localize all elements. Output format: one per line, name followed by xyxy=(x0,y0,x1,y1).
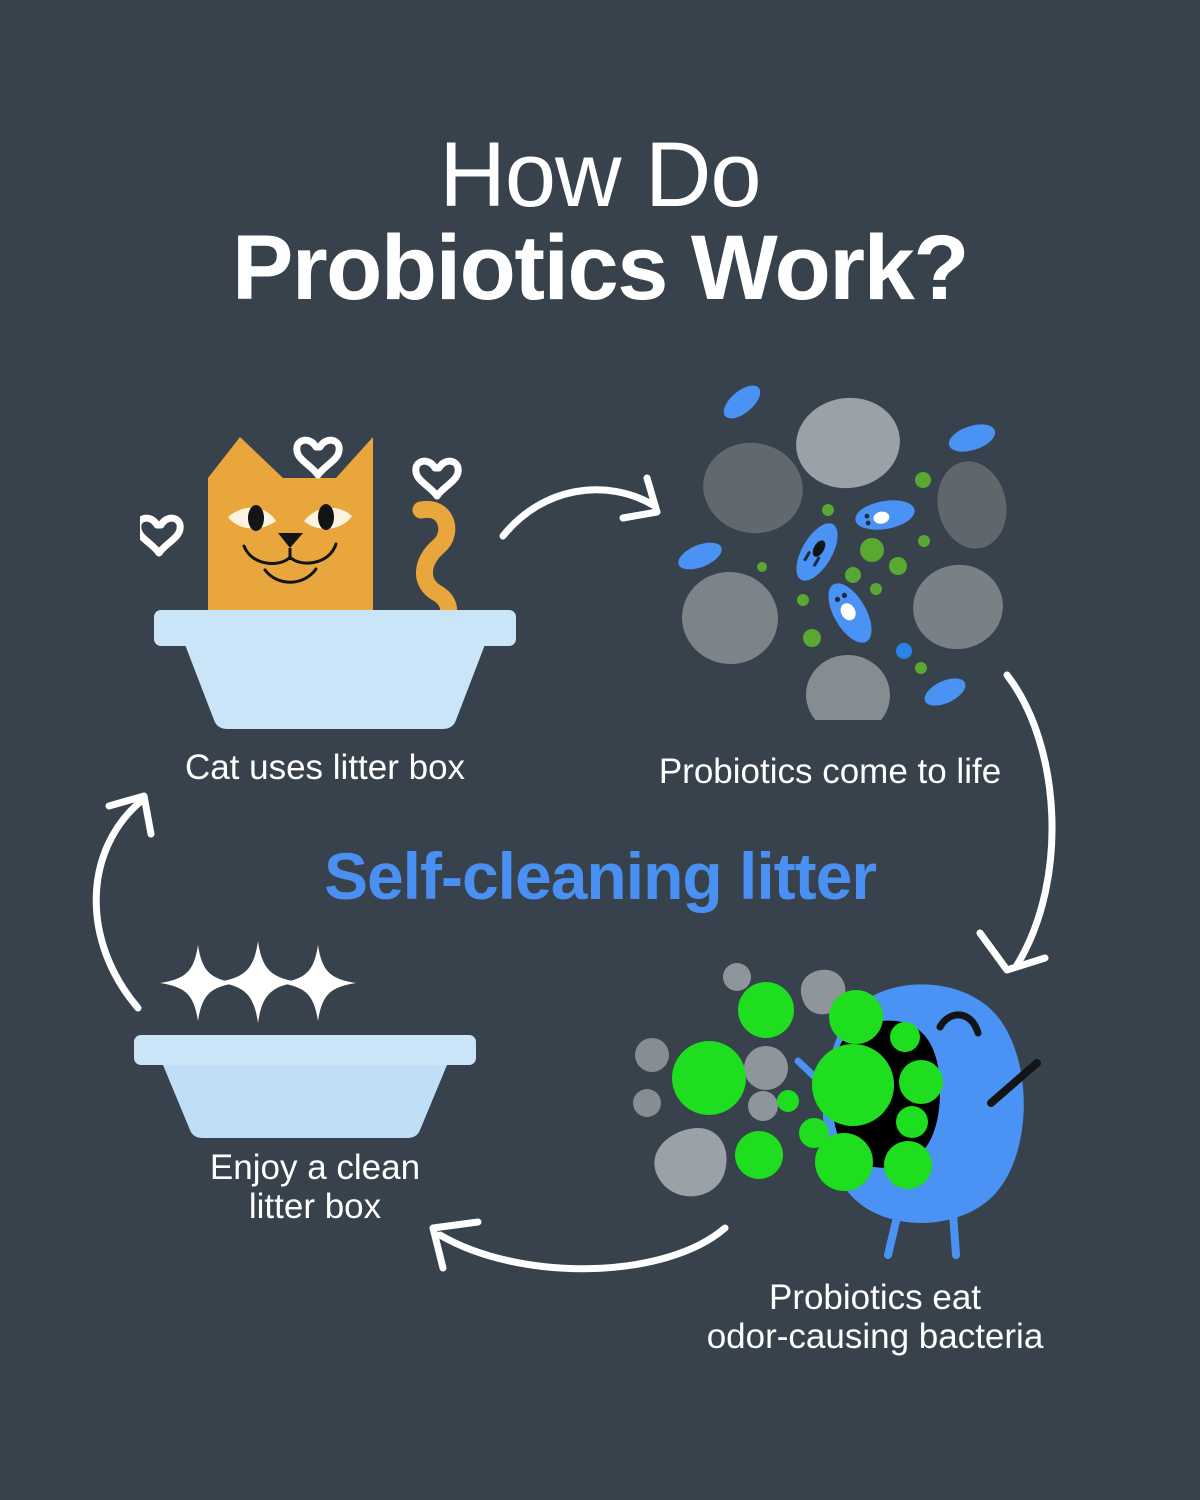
bacteria xyxy=(896,1106,928,1138)
cat-head-body xyxy=(208,437,373,627)
probiotic-rod xyxy=(675,537,726,575)
clean-litter-box-illustration xyxy=(130,935,510,1150)
litter-clump xyxy=(676,566,784,670)
litter-clump xyxy=(906,558,1009,656)
bacteria xyxy=(884,1141,932,1189)
litter-clump xyxy=(930,455,1015,555)
curved-arrow-icon xyxy=(1007,675,1052,965)
litter-box-basin xyxy=(184,642,486,729)
litter-clump xyxy=(695,434,812,543)
bacteria xyxy=(777,1090,799,1112)
litter-clump xyxy=(744,1046,788,1090)
spore xyxy=(870,583,882,595)
curved-arrow-icon xyxy=(503,490,653,536)
litter-box-rim xyxy=(154,610,516,646)
sparkle-group xyxy=(160,941,356,1023)
litter-box-rim xyxy=(134,1035,476,1065)
spore xyxy=(860,538,884,562)
bacteria xyxy=(899,1060,943,1104)
litter-clump xyxy=(633,1089,661,1117)
probiotic-with-face xyxy=(788,517,846,587)
heart-icon xyxy=(297,440,339,475)
probiotic-rod xyxy=(920,673,969,712)
probiotic-with-face xyxy=(853,496,917,534)
spore xyxy=(803,629,821,647)
litter-clump xyxy=(748,1091,778,1121)
litter-clump xyxy=(803,651,894,720)
probiotic-dot xyxy=(896,643,912,659)
spore xyxy=(918,535,930,547)
page-title: How Do Probiotics Work? xyxy=(0,130,1200,317)
probiotic-rod xyxy=(718,379,766,424)
cat-pupil-right xyxy=(318,504,334,530)
bacteria xyxy=(738,982,794,1038)
infographic-poster: How Do Probiotics Work? Cat uses litter … xyxy=(0,0,1200,1500)
heart-icon xyxy=(140,518,180,553)
litter-clump xyxy=(723,963,751,991)
litter-clump xyxy=(654,1128,726,1196)
bacteria xyxy=(890,1022,920,1052)
spore xyxy=(889,557,907,575)
bacteria xyxy=(815,1133,873,1191)
spore xyxy=(822,504,834,516)
spore xyxy=(915,662,927,674)
bacteria xyxy=(672,1041,746,1115)
arrow-right-down xyxy=(965,665,1085,995)
bacteria xyxy=(812,1044,894,1126)
probiotic-eating-bacteria-illustration xyxy=(620,955,1070,1265)
spore xyxy=(797,594,809,606)
caption-probiotics-eat-odor-causing-bacteria: Probiotics eat odor-causing bacteria xyxy=(650,1278,1100,1356)
probiotic-leg xyxy=(953,1213,956,1255)
spore xyxy=(845,567,861,583)
spore xyxy=(915,472,931,488)
litter-clump xyxy=(790,391,906,495)
heart-icon xyxy=(416,461,458,496)
litter-clump xyxy=(635,1038,669,1072)
bacteria xyxy=(735,1131,783,1179)
title-line-1: How Do xyxy=(0,130,1200,220)
cat-pupil-left xyxy=(248,505,264,531)
cat-in-litter-box-illustration xyxy=(140,415,530,735)
spore xyxy=(757,562,767,572)
litter-box-basin xyxy=(163,1065,447,1138)
bacteria xyxy=(829,990,883,1044)
sparkle-icon xyxy=(280,945,356,1021)
arrow-top-right xyxy=(495,470,685,550)
title-line-2: Probiotics Work? xyxy=(0,220,1200,317)
probiotic-rod xyxy=(945,419,998,457)
